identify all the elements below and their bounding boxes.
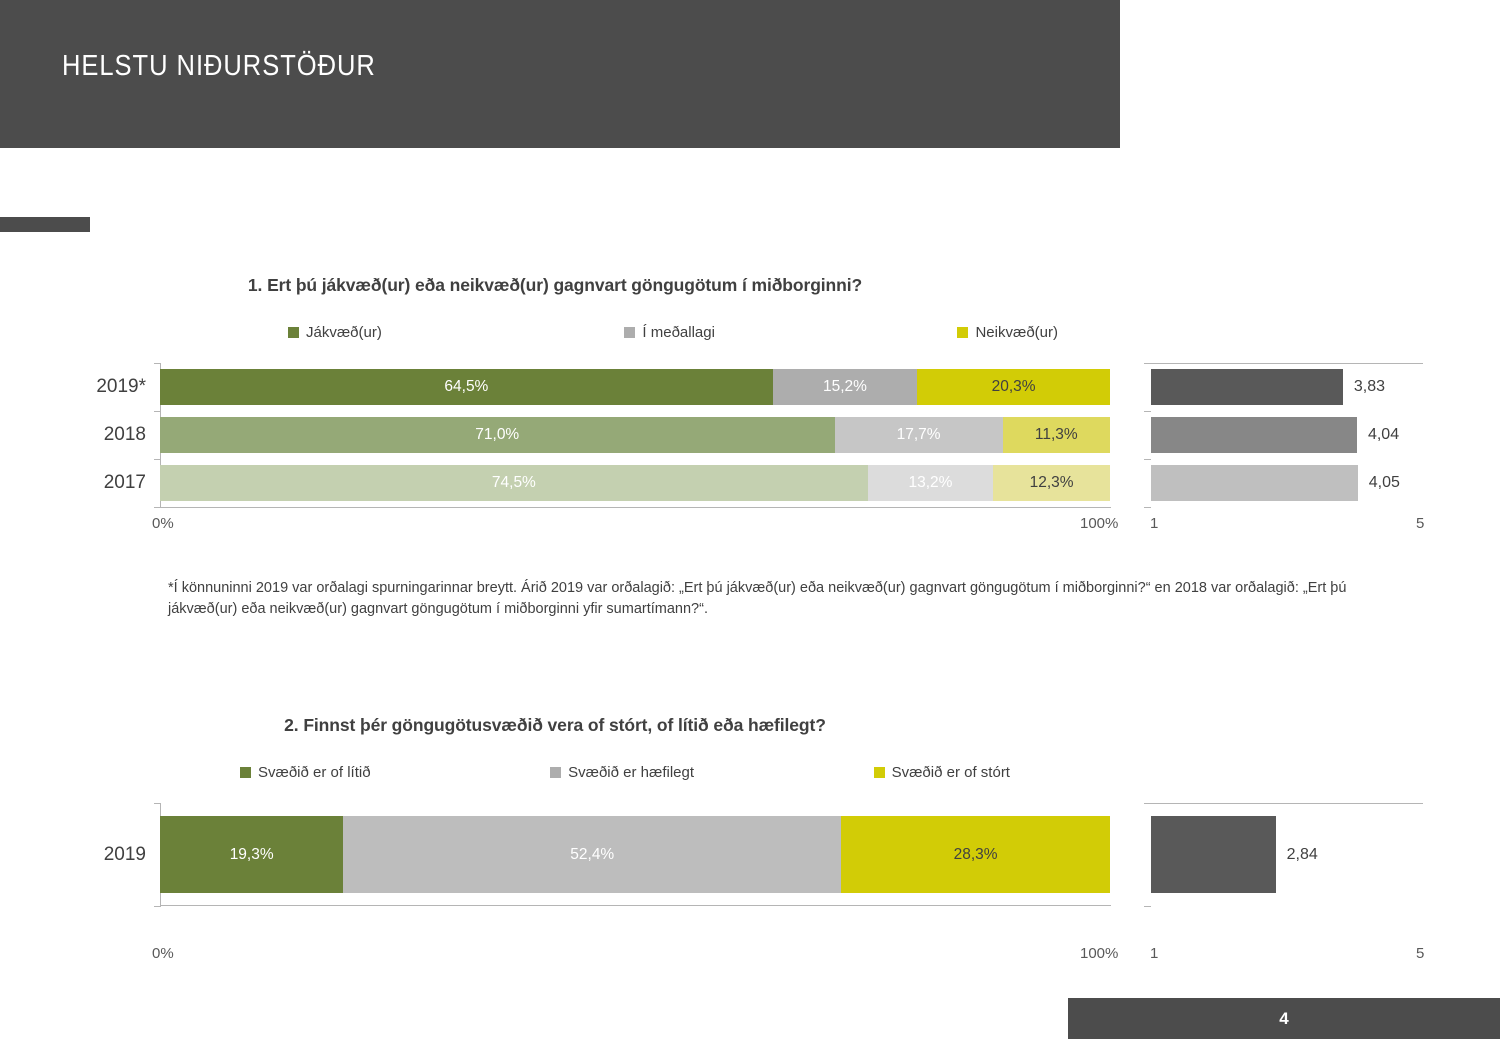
mean-axis-label-max: 5	[1416, 945, 1424, 962]
legend-swatch-icon	[288, 327, 299, 338]
bar-value-label: 11,3%	[1035, 426, 1078, 444]
chart-1-title: 1. Ert þú jákvæð(ur) eða neikvæð(ur) gag…	[0, 275, 1110, 296]
header-bar: HELSTU NIÐURSTÖÐUR	[0, 0, 1120, 148]
legend-label: Svæðið er hæfilegt	[568, 764, 694, 781]
legend-item: Svæðið er of lítið	[240, 764, 371, 781]
row-label: 2018	[104, 424, 160, 446]
bar-segment-too-big: 28,3%	[841, 816, 1110, 893]
bar-segment-neutral: 15,2%	[773, 369, 917, 405]
legend-swatch-icon	[624, 327, 635, 338]
chart-1-plot: 2019* 64,5% 15,2% 20,3% 2018 71,0% 17,7%	[0, 363, 1500, 538]
legend-label: Í meðallagi	[642, 324, 715, 341]
axis-label-min: 0%	[152, 945, 174, 962]
legend-swatch-icon	[874, 767, 885, 778]
axis-label-max: 100%	[1080, 515, 1118, 532]
bar-segment-positive: 74,5%	[160, 465, 868, 501]
legend-item: Svæðið er hæfilegt	[550, 764, 694, 781]
logo-container	[1120, 0, 1500, 160]
bar-value-label: 19,3%	[230, 846, 274, 864]
row-label: 2019*	[96, 376, 160, 398]
bar-value-label: 64,5%	[444, 378, 488, 396]
chart-1-rows: 2019* 64,5% 15,2% 20,3% 2018 71,0% 17,7%	[160, 363, 1110, 501]
chart-2-plot: 2019 19,3% 52,4% 28,3% 0% 100%	[0, 803, 1500, 938]
chart-block-1: 1. Ert þú jákvæð(ur) eða neikvæð(ur) gag…	[0, 275, 1500, 538]
list-item: 2,84	[1151, 816, 1422, 893]
bar-segment-positive: 71,0%	[160, 417, 835, 453]
list-item: 4,05	[1151, 465, 1422, 501]
legend-label: Svæðið er of stórt	[892, 764, 1010, 781]
bar-value-label: 28,3%	[954, 846, 998, 864]
mean-bar	[1151, 417, 1357, 453]
legend-item: Jákvæð(ur)	[288, 324, 382, 341]
row-label: 2019	[104, 844, 160, 866]
axis-label-min: 0%	[152, 515, 174, 532]
legend-item: Í meðallagi	[624, 324, 715, 341]
legend-swatch-icon	[550, 767, 561, 778]
legend-label: Svæðið er of lítið	[258, 764, 371, 781]
bar-segment-neutral: 17,7%	[835, 417, 1003, 453]
chart-2-title: 2. Finnst þér göngugötusvæðið vera of st…	[0, 715, 1110, 736]
bar-segment-suitable: 52,4%	[343, 816, 841, 893]
chart-1-mean-rows: 3,83 4,04 4,05	[1151, 363, 1422, 501]
chart-1-legend: Jákvæð(ur) Í meðallagi Neikvæð(ur)	[288, 324, 1058, 341]
axis-label-max: 100%	[1080, 945, 1118, 962]
mean-value-label: 2,84	[1276, 846, 1318, 864]
bar-value-label: 52,4%	[570, 846, 614, 864]
bar-value-label: 12,3%	[1030, 474, 1074, 492]
bar-value-label: 15,2%	[823, 378, 867, 396]
bar-value-label: 13,2%	[908, 474, 952, 492]
bar-value-label: 20,3%	[992, 378, 1036, 396]
bar-value-label: 17,7%	[897, 426, 941, 444]
chart-block-2: 2. Finnst þér göngugötusvæðið vera of st…	[0, 715, 1500, 938]
bar-segment-negative: 12,3%	[993, 465, 1110, 501]
bar-segment-negative: 11,3%	[1003, 417, 1110, 453]
mean-axis-label-min: 1	[1150, 945, 1158, 962]
legend-swatch-icon	[957, 327, 968, 338]
mean-value-label: 4,04	[1357, 426, 1399, 444]
bar-segment-neutral: 13,2%	[868, 465, 993, 501]
bar-segment-positive: 64,5%	[160, 369, 773, 405]
bar-segment-negative: 20,3%	[917, 369, 1110, 405]
chart-1-footnote: *Í könnuninni 2019 var orðalagi spurning…	[168, 578, 1400, 620]
mean-bar	[1151, 465, 1358, 501]
bar-value-label: 74,5%	[492, 474, 536, 492]
accent-bar	[0, 217, 90, 232]
list-item: 4,04	[1151, 417, 1422, 453]
mean-axis-label-min: 1	[1150, 515, 1158, 532]
chart-2-legend: Svæðið er of lítið Svæðið er hæfilegt Sv…	[240, 764, 1010, 781]
mean-value-label: 4,05	[1358, 474, 1400, 492]
mean-value-label: 3,83	[1343, 378, 1385, 396]
table-row: 2017 74,5% 13,2% 12,3%	[160, 465, 1110, 501]
legend-label: Jákvæð(ur)	[306, 324, 382, 341]
mean-bar	[1151, 369, 1343, 405]
table-row: 2019 19,3% 52,4% 28,3%	[160, 816, 1110, 893]
legend-item: Neikvæð(ur)	[957, 324, 1058, 341]
chart-2-rows: 2019 19,3% 52,4% 28,3%	[160, 803, 1110, 893]
footer-bar: 4	[1068, 998, 1500, 1039]
page-number: 4	[1068, 998, 1500, 1039]
legend-swatch-icon	[240, 767, 251, 778]
mean-axis-label-max: 5	[1416, 515, 1424, 532]
bar-value-label: 71,0%	[475, 426, 519, 444]
row-label: 2017	[104, 472, 160, 494]
legend-label: Neikvæð(ur)	[975, 324, 1058, 341]
table-row: 2018 71,0% 17,7% 11,3%	[160, 417, 1110, 453]
page-title: HELSTU NIÐURSTÖÐUR	[62, 50, 376, 83]
chart-2-mean-rows: 2,84	[1151, 803, 1422, 893]
bar-segment-too-small: 19,3%	[160, 816, 343, 893]
table-row: 2019* 64,5% 15,2% 20,3%	[160, 369, 1110, 405]
list-item: 3,83	[1151, 369, 1422, 405]
legend-item: Svæðið er of stórt	[874, 764, 1010, 781]
mean-bar	[1151, 816, 1276, 893]
